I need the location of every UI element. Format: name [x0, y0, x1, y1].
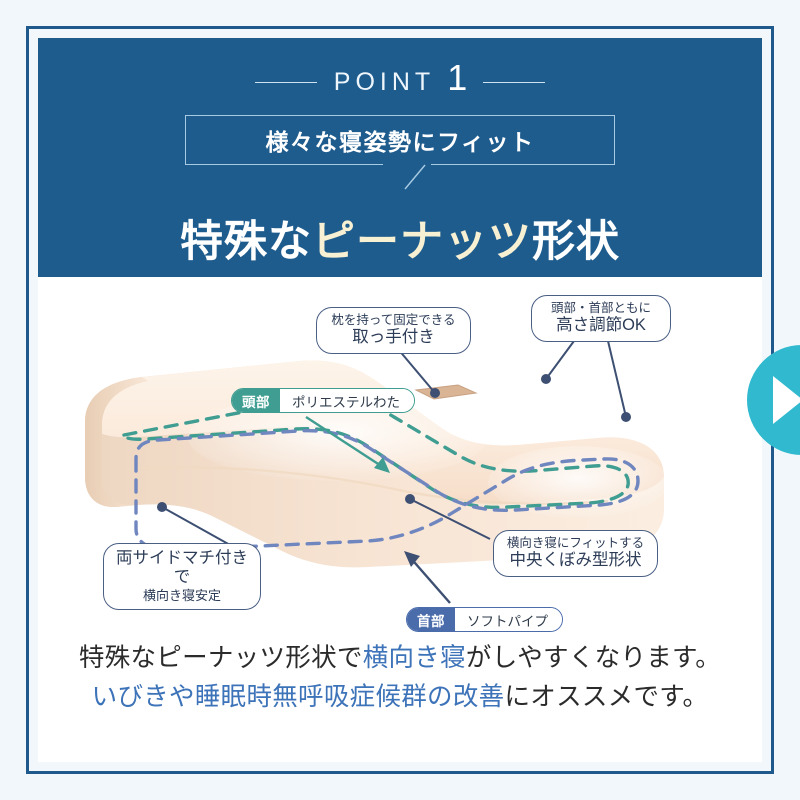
point-rule-left: [255, 82, 317, 83]
callout-side-gusset-line1: 両サイドマチ付きで: [116, 549, 248, 588]
title-segment-3: 形状: [532, 218, 620, 266]
callout-side-gusset-line2: 横向き寝安定: [116, 588, 248, 603]
tag-neck-key: 首部: [407, 608, 455, 631]
description-line2-b: にオススメです。: [504, 683, 708, 711]
tag-head-material: 頭部 ポリエステルわた: [231, 388, 415, 413]
description-block: 特殊なピーナッツ形状で横向き寝がしやすくなります。 いびきや睡眠時無呼吸症候群の…: [38, 639, 762, 717]
callout-center-dip-line1: 横向き寝にフィットする: [506, 536, 645, 551]
description-line1-highlight: 横向き寝: [363, 644, 466, 672]
point-label: POINT: [331, 70, 435, 95]
hero-panel: POINT 1 様々な寝姿勢にフィット 特殊なピーナッツ形状: [38, 38, 762, 277]
subtitle-box-wrap: 様々な寝姿勢にフィット: [185, 115, 615, 165]
callout-center-dip: 横向き寝にフィットする 中央くぼみ型形状: [493, 530, 658, 577]
callout-handle-line1: 枕を持って固定できる: [329, 313, 458, 328]
callout-handle-line2: 取っ手付き: [329, 328, 458, 347]
product-diagram: 枕を持って固定できる 取っ手付き 頭部・首部ともに 高さ調節OK 両サイドマチ付…: [38, 277, 762, 632]
subtitle-text: 様々な寝姿勢にフィット: [265, 123, 534, 157]
point-rule-right: [483, 82, 545, 83]
play-triangle-icon: [773, 376, 800, 424]
pillow-handle: [416, 385, 476, 399]
point-number: 1: [447, 60, 467, 96]
tag-head-value: ポリエステルわた: [280, 389, 414, 412]
infographic-page: POINT 1 様々な寝姿勢にフィット 特殊なピーナッツ形状: [0, 0, 800, 800]
callout-height: 頭部・首部ともに 高さ調節OK: [531, 295, 671, 342]
callout-height-line1: 頭部・首部ともに: [544, 301, 658, 316]
title-segment-1: 特殊な: [180, 218, 312, 266]
description-line1-c: がしやすくなります。: [466, 644, 721, 672]
tag-head-key: 頭部: [232, 389, 280, 412]
description-line-2: いびきや睡眠時無呼吸症候群の改善にオススメです。: [38, 678, 762, 717]
tag-neck-value: ソフトパイプ: [455, 608, 562, 631]
description-line1-a: 特殊なピーナッツ形状で: [79, 644, 363, 672]
tag-neck-material: 首部 ソフトパイプ: [406, 607, 563, 632]
callout-side-gusset: 両サイドマチ付きで 横向き寝安定: [103, 543, 261, 610]
description-line-1: 特殊なピーナッツ形状で横向き寝がしやすくなります。: [38, 639, 762, 678]
callout-height-line2: 高さ調節OK: [544, 316, 658, 335]
description-line2-highlight: いびきや睡眠時無呼吸症候群の改善: [92, 683, 505, 711]
content-area: 枕を持って固定できる 取っ手付き 頭部・首部ともに 高さ調節OK 両サイドマチ付…: [38, 277, 762, 762]
point-header: POINT 1: [38, 64, 762, 100]
page-title: 特殊なピーナッツ形状: [38, 221, 762, 264]
title-segment-2: ピーナッツ: [312, 218, 532, 266]
subtitle-box: 様々な寝姿勢にフィット: [185, 115, 615, 165]
callout-center-dip-line2: 中央くぼみ型形状: [506, 551, 645, 570]
callout-handle: 枕を持って固定できる 取っ手付き: [316, 307, 471, 354]
subtitle-pointer-tick: [403, 163, 431, 191]
